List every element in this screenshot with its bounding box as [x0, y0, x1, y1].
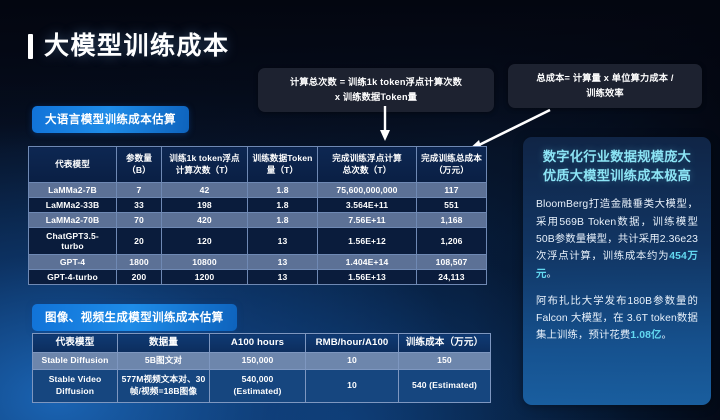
- table-llm-col-total-cost: 完成训练总成本（万元）: [417, 147, 487, 183]
- cell-params: 200: [117, 270, 162, 285]
- title-text: 大模型训练成本: [44, 34, 230, 59]
- table-row: LaMMa2-70B 70 420 1.8 7.56E+11 1,168: [29, 213, 487, 228]
- falcon-text: 阿布扎比大学发布180B参数量的 Falcon 大模型，在 3.6T token…: [536, 296, 698, 342]
- cell-params: 70: [117, 213, 162, 228]
- cell-total-flops: 1.56E+12: [318, 228, 417, 255]
- cell-tokens: 13: [248, 255, 318, 270]
- table-gen-col-cost: 训练成本（万元）: [399, 334, 491, 353]
- cell-flops-1k: 10800: [162, 255, 248, 270]
- title-accent-bar: [28, 34, 33, 59]
- insight-panel-heading: 数字化行业数据规模庞大 优质大模型训练成本极高: [536, 148, 698, 185]
- callout-2-line-2: 训练效率: [517, 86, 693, 101]
- arrow-down-head-icon: [380, 130, 390, 141]
- insight-panel: 数字化行业数据规模庞大 优质大模型训练成本极高 BloomBerg打造金融垂类大…: [523, 137, 711, 405]
- table-gen-training-cost: 代表模型 数据量 A100 hours RMB/hour/A100 训练成本（万…: [32, 333, 491, 403]
- slide-root: 大模型训练成本 计算总次数 = 训练1k token浮点计算次数 x 训练数据T…: [0, 0, 720, 420]
- cell-model: LaMMa2-33B: [29, 198, 117, 213]
- cell-model: GPT-4-turbo: [29, 270, 117, 285]
- cell-flops-1k: 42: [162, 183, 248, 198]
- cell-total-cost: 551: [417, 198, 487, 213]
- cell-tokens: 1.8: [248, 213, 318, 228]
- table-llm-col-tokens: 训练数据Token量（T）: [248, 147, 318, 183]
- table-gen-col-rmb-rate: RMB/hour/A100: [306, 334, 399, 353]
- cell-total-cost: 1,168: [417, 213, 487, 228]
- cell-data: 577M视频文本对、30帧/视频=18B图像: [118, 369, 210, 402]
- cell-tokens: 13: [248, 228, 318, 255]
- cell-params: 7: [117, 183, 162, 198]
- table-row: ChatGPT3.5-turbo 20 120 13 1.56E+12 1,20…: [29, 228, 487, 255]
- cell-params: 20: [117, 228, 162, 255]
- page-title: 大模型训练成本: [28, 34, 230, 59]
- cell-params: 1800: [117, 255, 162, 270]
- table-llm-col-model: 代表模型: [29, 147, 117, 183]
- cell-a100-hours: 150,000: [210, 353, 306, 370]
- table-llm-header-row: 代表模型 参数量（B） 训练1k token浮点计算次数（T） 训练数据Toke…: [29, 147, 487, 183]
- cell-model: Stable Diffusion: [33, 353, 118, 370]
- cell-flops-1k: 120: [162, 228, 248, 255]
- bloomberg-text-end: 。: [547, 269, 558, 280]
- cell-flops-1k: 1200: [162, 270, 248, 285]
- insight-heading-line-2: 优质大模型训练成本极高: [536, 167, 698, 186]
- callout-1-line-2: x 训练数据Token量: [267, 90, 485, 105]
- section-badge-gen: 图像、视频生成模型训练成本估算: [32, 304, 237, 331]
- table-row: Stable Diffusion 5B图文对 150,000 10 150: [33, 353, 491, 370]
- cell-data: 5B图文对: [118, 353, 210, 370]
- cell-flops-1k: 198: [162, 198, 248, 213]
- table-llm-col-params: 参数量（B）: [117, 147, 162, 183]
- cell-total-flops: 1.56E+13: [318, 270, 417, 285]
- callout-total-cost-formula: 总成本= 计算量 x 单位算力成本 / 训练效率: [508, 64, 702, 108]
- cell-total-cost: 24,113: [417, 270, 487, 285]
- cell-model: Stable VideoDiffusion: [33, 369, 118, 402]
- cell-cost: 540 (Estimated): [399, 369, 491, 402]
- cell-flops-1k: 420: [162, 213, 248, 228]
- insight-heading-line-1: 数字化行业数据规模庞大: [536, 148, 698, 167]
- section-badge-llm: 大语言模型训练成本估算: [32, 106, 189, 133]
- table-gen-col-data: 数据量: [118, 334, 210, 353]
- callout-2-line-1: 总成本= 计算量 x 单位算力成本 /: [517, 71, 693, 86]
- callout-1-line-1: 计算总次数 = 训练1k token浮点计算次数: [267, 75, 485, 90]
- table-row: GPT-4 1800 10800 13 1.404E+14 108,507: [29, 255, 487, 270]
- table-llm-col-flops-1k: 训练1k token浮点计算次数（T）: [162, 147, 248, 183]
- cell-params: 33: [117, 198, 162, 213]
- cell-a100-hours: 540,000(Estimated): [210, 369, 306, 402]
- falcon-text-end: 。: [662, 330, 673, 341]
- table-row: LaMMa2-7B 7 42 1.8 75,600,000,000 117: [29, 183, 487, 198]
- callout-compute-total-formula: 计算总次数 = 训练1k token浮点计算次数 x 训练数据Token量: [258, 68, 494, 112]
- cell-total-cost: 1,206: [417, 228, 487, 255]
- table-gen-header-row: 代表模型 数据量 A100 hours RMB/hour/A100 训练成本（万…: [33, 334, 491, 353]
- cell-total-flops: 75,600,000,000: [318, 183, 417, 198]
- cell-tokens: 13: [248, 270, 318, 285]
- cell-cost: 150: [399, 353, 491, 370]
- cell-total-cost: 117: [417, 183, 487, 198]
- cell-total-flops: 7.56E+11: [318, 213, 417, 228]
- table-gen-col-a100-hours: A100 hours: [210, 334, 306, 353]
- cell-tokens: 1.8: [248, 198, 318, 213]
- cell-rmb-rate: 10: [306, 369, 399, 402]
- cell-model: ChatGPT3.5-turbo: [29, 228, 117, 255]
- cell-tokens: 1.8: [248, 183, 318, 198]
- table-row: LaMMa2-33B 33 198 1.8 3.564E+11 551: [29, 198, 487, 213]
- cell-model: GPT-4: [29, 255, 117, 270]
- table-gen-col-model: 代表模型: [33, 334, 118, 353]
- insight-paragraph-falcon: 阿布扎比大学发布180B参数量的 Falcon 大模型，在 3.6T token…: [536, 293, 698, 345]
- cell-model: LaMMa2-7B: [29, 183, 117, 198]
- table-llm-training-cost: 代表模型 参数量（B） 训练1k token浮点计算次数（T） 训练数据Toke…: [28, 146, 487, 285]
- falcon-cost-highlight: 1.08亿: [630, 330, 661, 341]
- insight-paragraph-bloomberg: BloomBerg打造金融垂类大模型，采用569B Token数据，训练模型50…: [536, 196, 698, 282]
- table-row: GPT-4-turbo 200 1200 13 1.56E+13 24,113: [29, 270, 487, 285]
- cell-model: LaMMa2-70B: [29, 213, 117, 228]
- cell-total-flops: 3.564E+11: [318, 198, 417, 213]
- cell-total-flops: 1.404E+14: [318, 255, 417, 270]
- cell-rmb-rate: 10: [306, 353, 399, 370]
- table-llm-col-total-flops: 完成训练浮点计算总次数（T）: [318, 147, 417, 183]
- cell-total-cost: 108,507: [417, 255, 487, 270]
- table-row: Stable VideoDiffusion 577M视频文本对、30帧/视频=1…: [33, 369, 491, 402]
